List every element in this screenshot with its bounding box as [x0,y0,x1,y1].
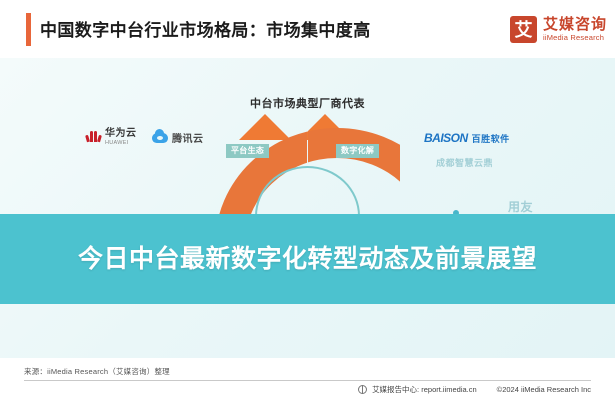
header-accent-bar [26,13,31,46]
vendor-logo-tencent-cloud: 腾讯云 [152,130,204,145]
copyright-text: ©2024 iiMedia Research Inc [497,385,591,394]
vendor-name-cn: 用友 [508,198,533,215]
brand-name-en: iiMedia Research [543,34,607,42]
overlay-headline: 今日中台最新数字化转型动态及前景展望 [28,243,588,275]
vendor-logo-huawei-cloud: 华为云 HUAWEI [86,128,137,146]
vendor-name-cn: 华为云 [105,128,137,140]
brand-text: 艾媒咨询 iiMedia Research [543,17,607,42]
vendor-name-en: HUAWEI [105,140,137,146]
brand-name-cn: 艾媒咨询 [543,17,607,32]
vendor-logo-baison: BAISON 百胜软件 [424,131,510,145]
vendor-logo-chengdu-zhihui: 成都智慧云鼎 [436,156,493,169]
headline-overlay-band: 今日中台最新数字化转型动态及前景展望 [0,214,615,304]
source-note: 来源：iiMedia Research（艾媒咨询）整理 [24,366,170,377]
page-footer: 来源：iiMedia Research（艾媒咨询）整理 艾媒报告中心: repo… [0,358,615,400]
vendor-name-cn: 成都智慧云鼎 [436,156,493,169]
donut-label-platform-ecosystem: 平台生态 [226,144,269,158]
globe-icon [358,385,367,394]
cloud-icon [152,133,168,143]
page-title: 中国数字中台行业市场格局：市场集中度高 [40,16,371,41]
vendor-name-cn: 百胜软件 [472,132,510,145]
donut-label-digital-solution: 数字化解 [336,144,379,158]
vendor-name-en: BAISON [424,131,468,145]
brand-logo: 艾 艾媒咨询 iiMedia Research [510,16,607,43]
infographic-stage: 中台市场典型厂商代表 华为云 HUAWEI 腾讯云 中奥科技 ChinaOly … [0,58,615,358]
report-center-link[interactable]: 艾媒报告中心: report.iimedia.cn [372,384,477,395]
vendor-name-cn: 腾讯云 [172,130,204,145]
footer-divider [24,380,591,381]
huawei-petal-icon [86,131,101,142]
page-header: 中国数字中台行业市场格局：市场集中度高 艾 艾媒咨询 iiMedia Resea… [0,0,615,58]
brand-mark-icon: 艾 [510,16,537,43]
footer-meta: 艾媒报告中心: report.iimedia.cn ©2024 iiMedia … [358,384,591,395]
infographic-caption: 中台市场典型厂商代表 [0,95,615,111]
